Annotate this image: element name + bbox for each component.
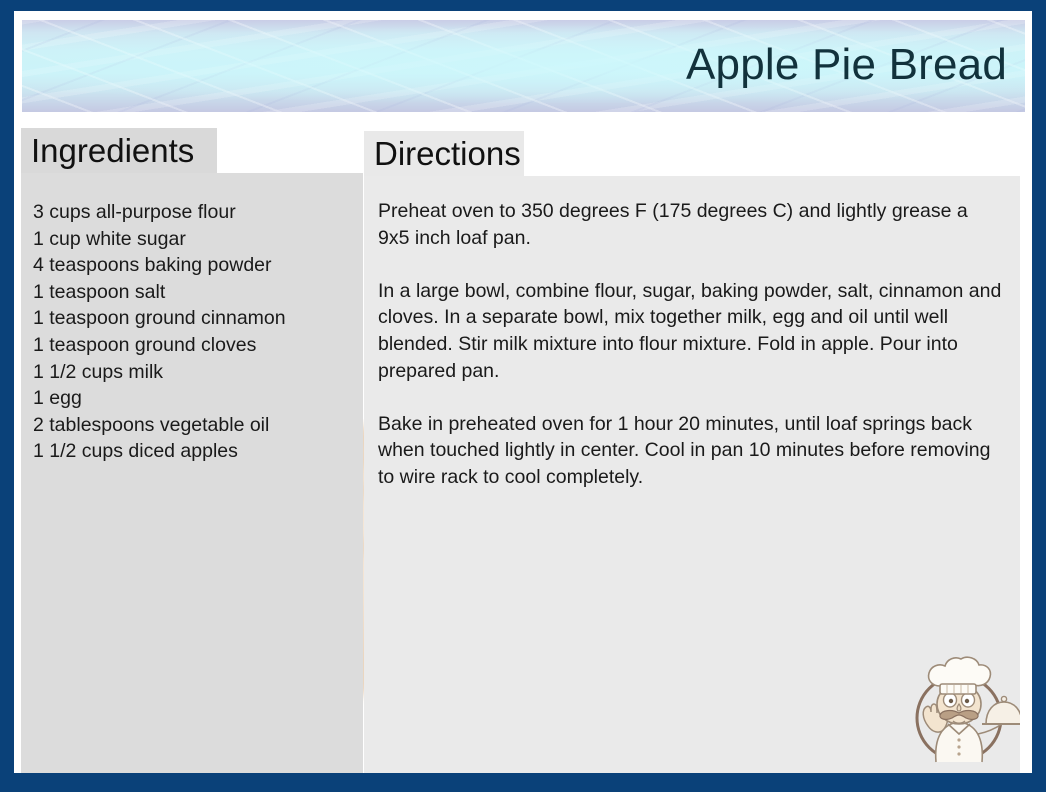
ingredients-heading-tab: Ingredients <box>21 128 217 173</box>
page-title: Apple Pie Bread <box>686 43 1007 87</box>
header-banner: Apple Pie Bread <box>22 20 1025 112</box>
direction-paragraph: In a large bowl, combine flour, sugar, b… <box>378 278 1004 384</box>
ingredient-list: 3 cups all-purpose flour 1 cup white sug… <box>33 199 347 465</box>
direction-paragraph: Bake in preheated oven for 1 hour 20 min… <box>378 411 1004 491</box>
list-item: 1 1/2 cups milk <box>33 359 347 386</box>
ingredients-heading: Ingredients <box>31 134 194 167</box>
list-item: 1 1/2 cups diced apples <box>33 438 347 465</box>
list-item: 4 teaspoons baking powder <box>33 252 347 279</box>
recipe-page: Apple Pie Bread <box>14 11 1032 773</box>
recipe-card-frame: Apple Pie Bread <box>0 0 1046 792</box>
list-item: 1 cup white sugar <box>33 226 347 253</box>
list-item: 3 cups all-purpose flour <box>33 199 347 226</box>
list-item: 2 tablespoons vegetable oil <box>33 412 347 439</box>
direction-paragraph: Preheat oven to 350 degrees F (175 degre… <box>378 198 1004 251</box>
ingredients-panel: Ingredients 3 cups all-purpose flour 1 c… <box>21 128 363 773</box>
list-item: 1 teaspoon ground cinnamon <box>33 305 347 332</box>
directions-panel: Directions Preheat oven to 350 degrees F… <box>364 131 1020 773</box>
list-item: 1 teaspoon salt <box>33 279 347 306</box>
ingredients-body: 3 cups all-purpose flour 1 cup white sug… <box>21 173 363 773</box>
directions-body: Preheat oven to 350 degrees F (175 degre… <box>364 176 1020 773</box>
directions-heading-tab: Directions <box>364 131 524 176</box>
directions-heading: Directions <box>374 137 521 170</box>
list-item: 1 teaspoon ground cloves <box>33 332 347 359</box>
list-item: 1 egg <box>33 385 347 412</box>
